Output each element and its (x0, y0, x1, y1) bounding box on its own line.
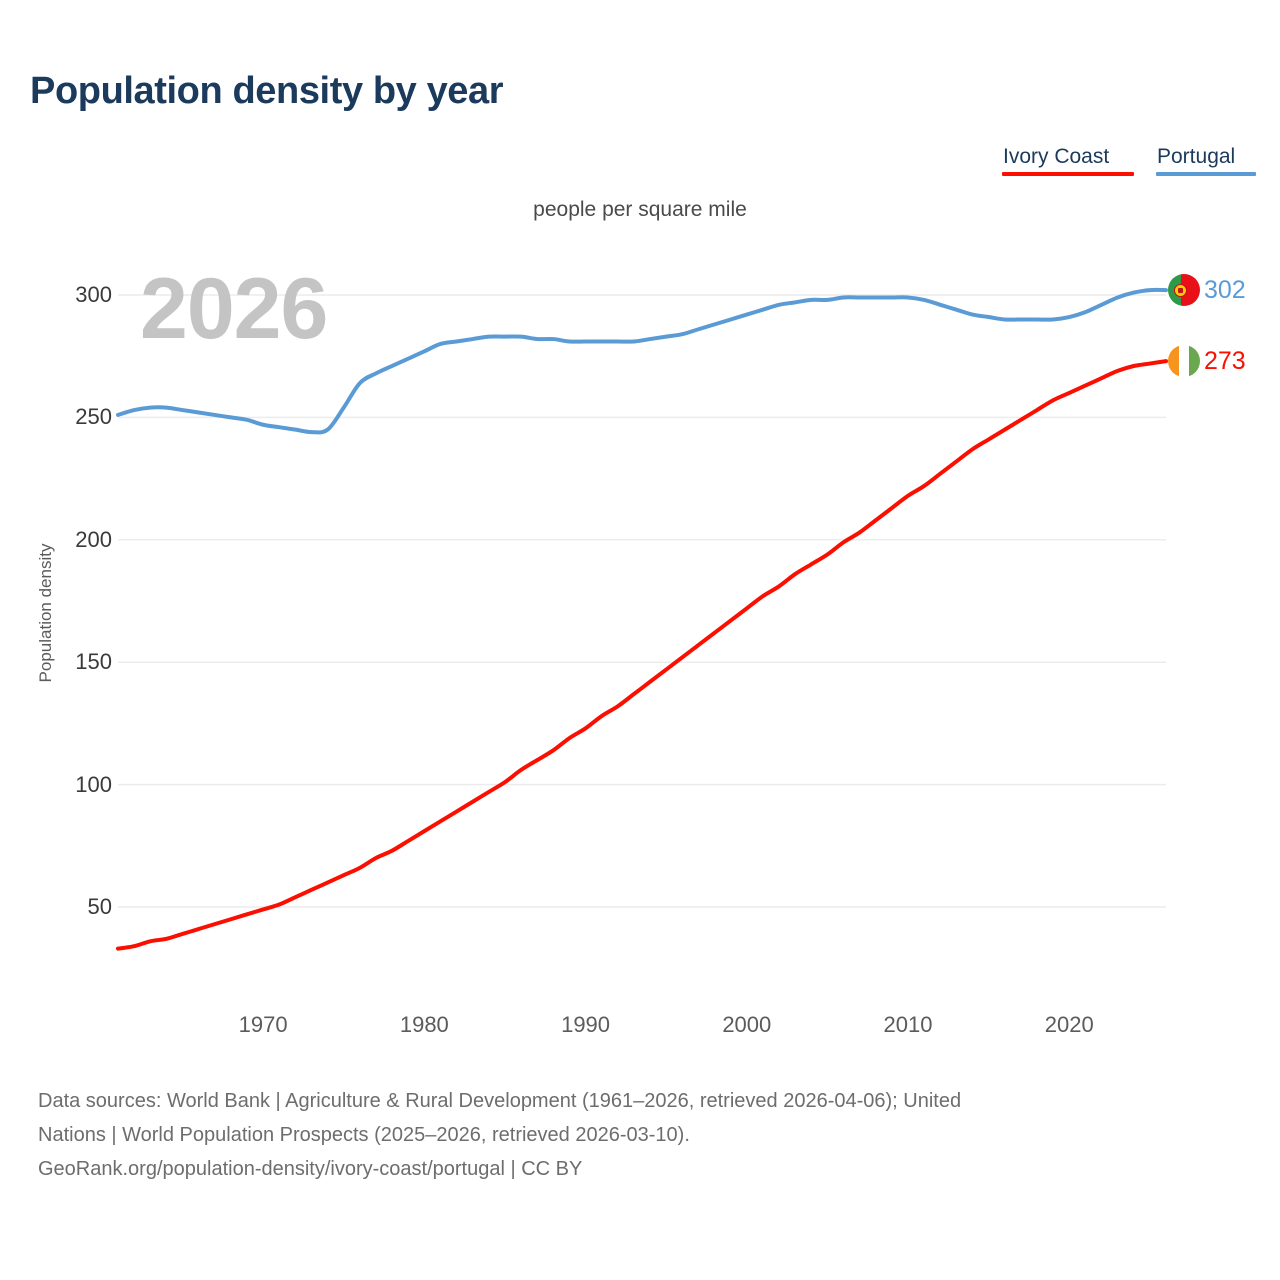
y-axis-title: Population density (36, 544, 56, 683)
y-tick-label: 200 (75, 527, 112, 553)
end-label-ivory-coast: 273 (1168, 345, 1246, 377)
x-tick-label: 2000 (722, 1012, 771, 1038)
watermark-year: 2026 (140, 266, 327, 352)
y-tick-label: 50 (88, 894, 112, 920)
y-tick-label: 300 (75, 282, 112, 308)
footer-line-1: Data sources: World Bank | Agriculture &… (38, 1084, 1256, 1118)
end-label-value: 273 (1204, 349, 1246, 374)
y-tick-label: 150 (75, 649, 112, 675)
footer-line-3: GeoRank.org/population-density/ivory-coa… (38, 1152, 1256, 1186)
series-line-ivory-coast (118, 361, 1166, 949)
y-tick-label: 100 (75, 772, 112, 798)
chart-svg (0, 0, 1280, 1060)
footer: Data sources: World Bank | Agriculture &… (38, 1084, 1256, 1186)
ivory-coast-flag-icon (1168, 345, 1200, 377)
chart-root: Population density by year Ivory Coast P… (0, 0, 1280, 1280)
plot-area: 2026 (0, 0, 1280, 1060)
x-tick-label: 2010 (884, 1012, 933, 1038)
x-tick-label: 1980 (400, 1012, 449, 1038)
y-tick-label: 250 (75, 404, 112, 430)
x-tick-label: 1970 (239, 1012, 288, 1038)
end-label-portugal: 302 (1168, 274, 1246, 306)
x-tick-label: 2020 (1045, 1012, 1094, 1038)
footer-line-2: Nations | World Population Prospects (20… (38, 1118, 1256, 1152)
end-label-value: 302 (1204, 278, 1246, 303)
x-tick-label: 1990 (561, 1012, 610, 1038)
portugal-flag-icon (1168, 274, 1200, 306)
